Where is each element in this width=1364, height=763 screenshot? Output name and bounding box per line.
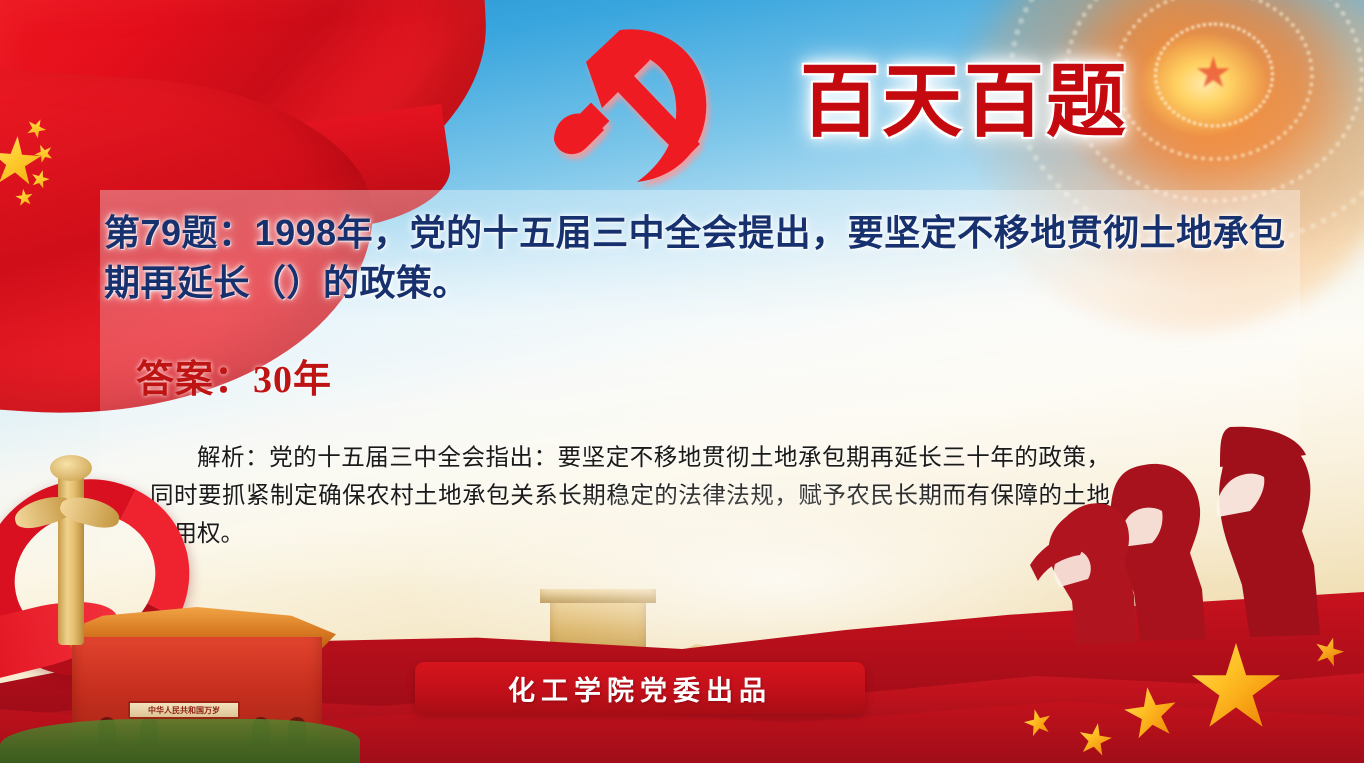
page-title: 百天百题 <box>800 62 1128 142</box>
poster-canvas: 百天百题 第79题：1998年，党的十五届三中全会提出，要坚定不移地贯彻土地承包… <box>0 0 1364 763</box>
hammer-and-sickle-icon <box>524 8 774 198</box>
huabiao-cap <box>50 455 92 481</box>
flag-star-small-1-icon <box>23 115 50 142</box>
tiananmen-gate-icon: 中华人民共和国万岁 <box>0 453 340 763</box>
footer-banner-label: 化工学院党委出品 <box>508 669 772 708</box>
flag-star-small-2-icon <box>31 140 58 167</box>
question-text: 第79题：1998年，党的十五届三中全会提出，要坚定不移地贯彻土地承包期再延长（… <box>104 208 1300 307</box>
flag-star-small-4-icon <box>14 188 34 208</box>
saluting-soldiers-icon <box>1014 425 1364 675</box>
footer-banner[interactable]: 化工学院党委出品 <box>415 662 865 714</box>
huabiao-column-icon <box>58 467 84 645</box>
answer-text: 答案：30年 <box>136 348 332 403</box>
gate-plaque: 中华人民共和国万岁 <box>128 701 240 719</box>
foliage <box>0 719 360 763</box>
flag-star-small-3-icon <box>28 168 52 192</box>
